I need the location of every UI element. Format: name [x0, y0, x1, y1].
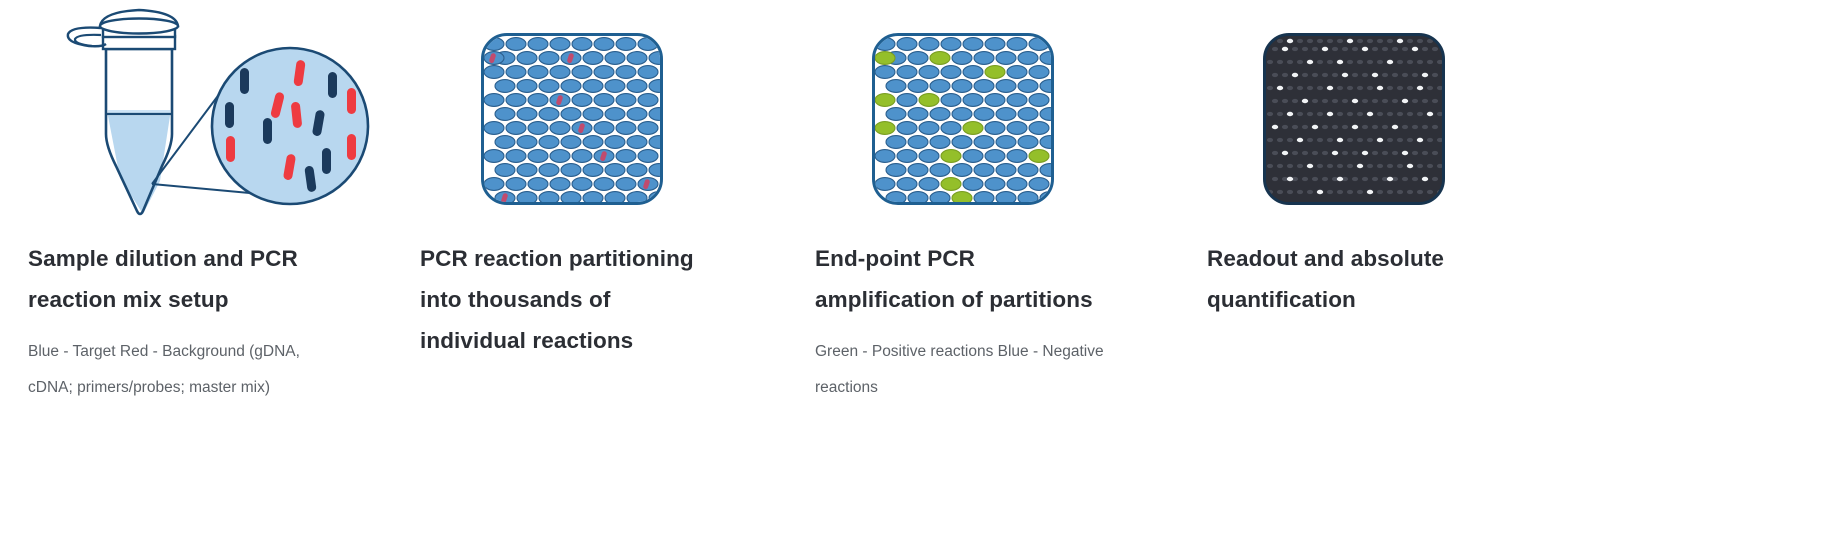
workflow-step-3: End-point PCR amplification of partition…: [815, 0, 1215, 558]
microcentrifuge-tube-with-magnifier-icon: [42, 6, 372, 222]
step-heading: Sample dilution and PCR reaction mix set…: [28, 238, 358, 320]
step-body: Green - Positive reactions Blue - Negati…: [815, 334, 1125, 406]
workflow-step-1: Sample dilution and PCR reaction mix set…: [28, 0, 428, 558]
fluorescence-readout-chip-icon: [1263, 33, 1445, 205]
ddpcr-workflow-figure: Sample dilution and PCR reaction mix set…: [0, 0, 1830, 558]
workflow-step-2: PCR reaction partitioning into thousands…: [420, 0, 820, 558]
partition-array-green-positive-icon: [872, 33, 1054, 205]
step-heading: Readout and absolute quantification: [1207, 238, 1507, 320]
step-heading: End-point PCR amplification of partition…: [815, 238, 1115, 320]
readout-chip-illustration: [1207, 0, 1607, 222]
endpoint-amplification-illustration: [815, 0, 1215, 222]
partition-array-blue-icon: [481, 33, 663, 205]
step-heading: PCR reaction partitioning into thousands…: [420, 238, 720, 361]
partition-array-illustration: [420, 0, 820, 222]
sample-tube-illustration: [28, 0, 428, 222]
workflow-step-4: Readout and absolute quantification: [1207, 0, 1607, 558]
step-body: Blue - Target Red - Background (gDNA, cD…: [28, 334, 338, 406]
